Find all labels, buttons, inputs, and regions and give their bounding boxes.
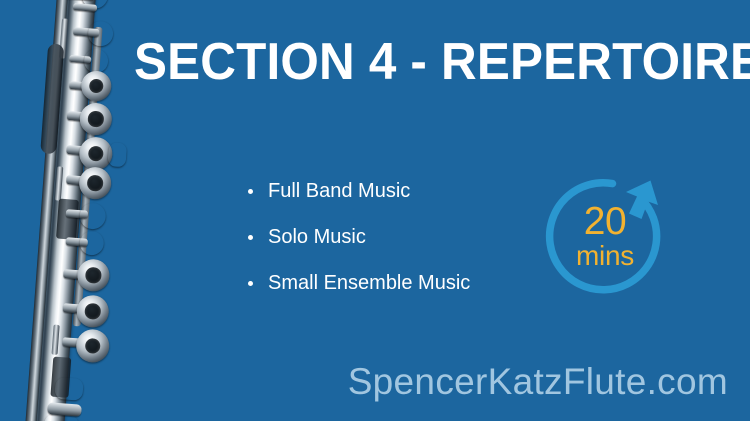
bullet-list: Full Band Music Solo Music Small Ensembl… — [244, 178, 470, 296]
bullet-dot-icon — [248, 189, 253, 194]
circular-arrow-icon — [540, 172, 670, 302]
duration-badge: 20 mins — [540, 172, 670, 302]
list-item-label: Full Band Music — [268, 180, 410, 202]
list-item-label: Solo Music — [268, 226, 366, 248]
presentation-slide: SECTION 4 - REPERTOIRE Full Band Music S… — [0, 0, 750, 421]
bullet-dot-icon — [248, 281, 253, 286]
brand-watermark: SpencerKatzFlute.com — [348, 361, 728, 403]
list-item-label: Small Ensemble Music — [268, 272, 470, 294]
list-item: Solo Music — [244, 224, 470, 250]
list-item: Small Ensemble Music — [244, 270, 470, 296]
bullet-dot-icon — [248, 235, 253, 240]
slide-title: SECTION 4 - REPERTOIRE — [134, 32, 704, 92]
list-item: Full Band Music — [244, 178, 470, 204]
